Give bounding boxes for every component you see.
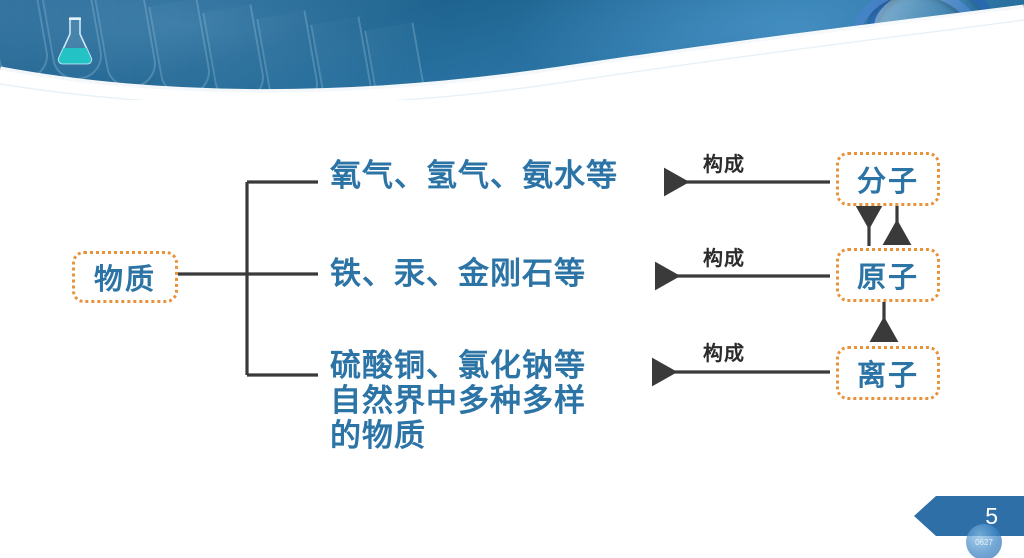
header-banner	[0, 0, 1024, 100]
relation-label-ion: 构成	[703, 337, 745, 366]
concept-diagram: 物质 氧气、氢气、氨水等 铁、汞、金刚石等 硫酸铜、氯化钠等 自然界中多种多样 …	[0, 100, 1024, 558]
relation-label-molecule: 构成	[703, 148, 745, 177]
leaf-text-compound-group: 硫酸铜、氯化钠等 自然界中多种多样 的物质	[330, 348, 586, 453]
node-molecule[interactable]: 分子	[836, 152, 940, 206]
node-substance[interactable]: 物质	[72, 251, 178, 303]
relation-label-atom: 构成	[703, 242, 745, 271]
corner-watermark-text: 0627	[975, 538, 993, 547]
node-atom-label: 原子	[857, 254, 919, 296]
leaf-text-oxygen-group: 氧气、氢气、氨水等	[330, 158, 618, 193]
node-substance-label: 物质	[94, 256, 156, 298]
tree-connector	[176, 182, 318, 375]
slide-canvas: 物质 氧气、氢气、氨水等 铁、汞、金刚石等 硫酸铜、氯化钠等 自然界中多种多样 …	[0, 0, 1024, 558]
header-wave-divider	[0, 0, 1024, 100]
corner-watermark-badge: 0627	[966, 524, 1002, 558]
leaf-text-iron-group: 铁、汞、金刚石等	[330, 256, 586, 291]
node-atom[interactable]: 原子	[836, 248, 940, 302]
node-ion-label: 离子	[857, 352, 919, 394]
node-molecule-label: 分子	[857, 158, 919, 200]
node-ion[interactable]: 离子	[836, 346, 940, 400]
